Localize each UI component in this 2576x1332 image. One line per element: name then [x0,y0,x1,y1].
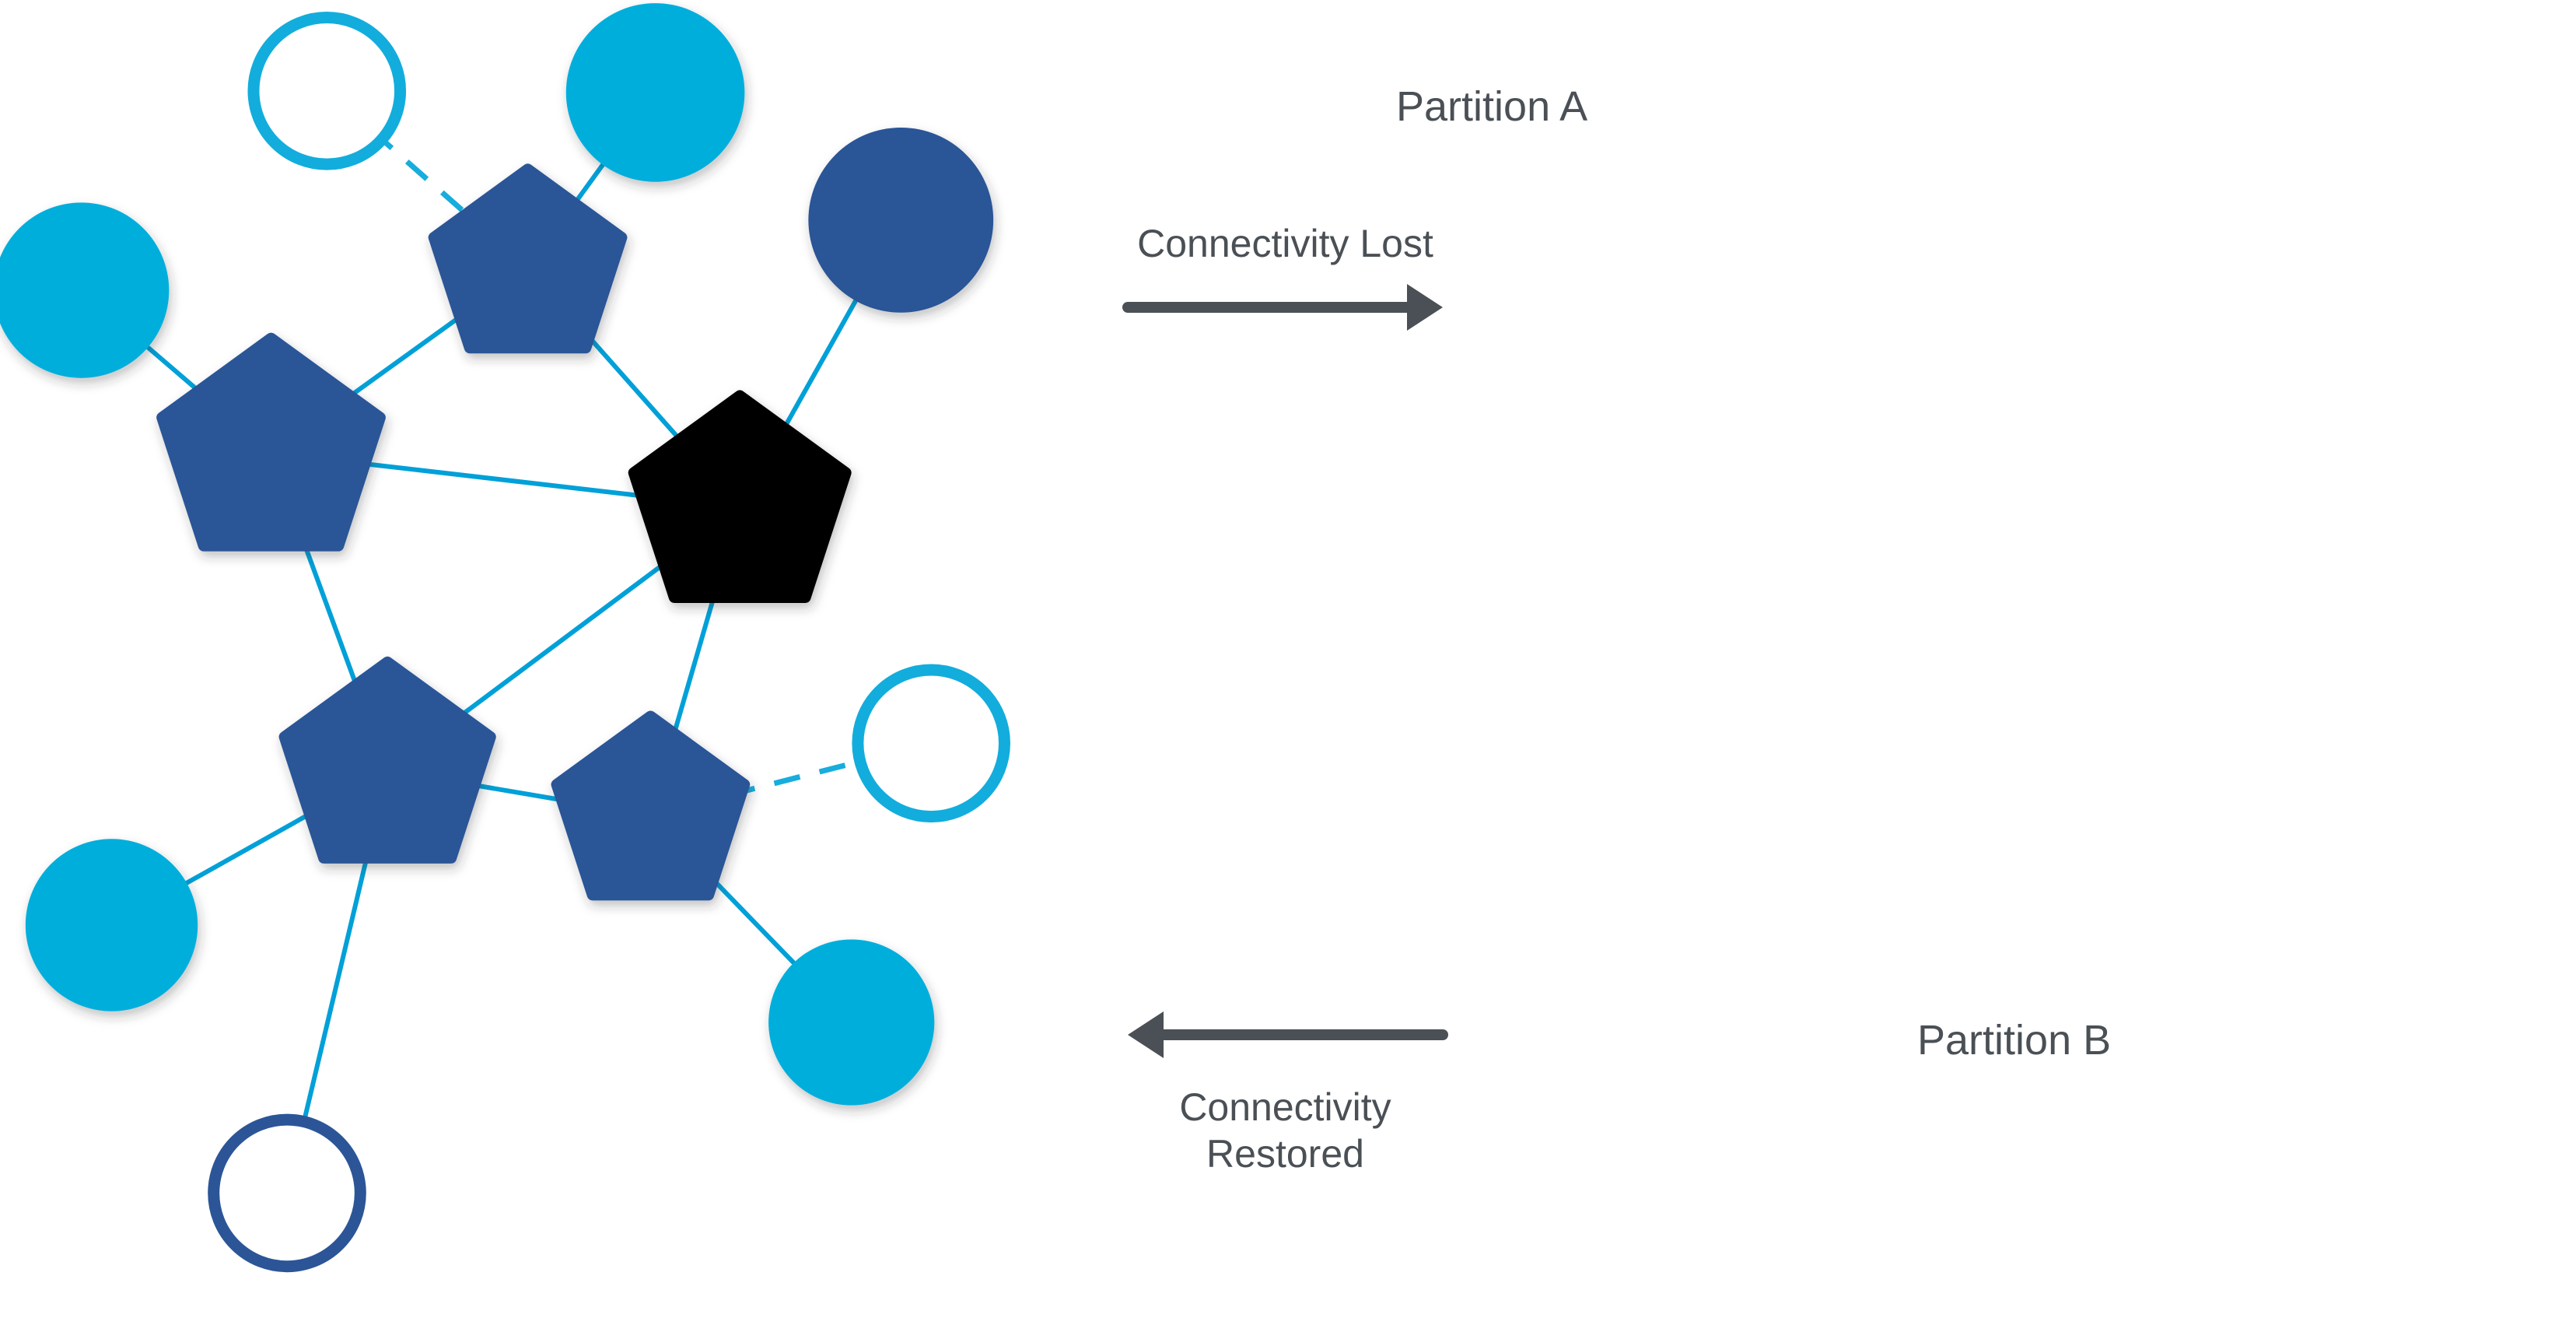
node-left-L13-circle-hollow-navy [214,1120,361,1267]
network-partition-diagram: Connectivity Lost Connectivity Restored … [0,0,2576,1332]
arrow-head [1128,1011,1164,1058]
transition-indicator-group: Connectivity Lost Connectivity Restored [1128,222,1443,1176]
node-left-L2-circle-fill-cyan [566,3,745,182]
node-left-L3-pentagon-fill-blue [434,169,622,348]
connectivity-restored-label-line2: Restored [1206,1132,1364,1176]
graph-edge-L8-L13 [301,857,367,1134]
node-left-L9-pentagon-fill-blue [557,716,745,895]
partition-a-label: Partition A [1396,83,1587,130]
node-left-L11-circle-fill-cyan [26,839,198,1011]
node-left-L8-pentagon-fill-blue [285,662,491,858]
node-left-L6-pentagon-fill-blue [162,338,380,546]
graph-edge-L6-L8 [303,542,357,687]
connectivity-restored-arrow [1128,1011,1443,1058]
arrow-head [1407,284,1443,331]
node-left-L10-circle-hollow-cyan [858,670,1005,817]
graph-edge-L3-L7 [582,328,679,438]
connectivity-restored-label-line1: Connectivity [1179,1085,1391,1129]
left-graph-nodes [0,3,1004,1267]
partition-b-label: Partition B [1917,1017,2111,1064]
graph-edge-L4-L7 [785,286,864,427]
graph-edge-L7-L8 [459,562,667,717]
graph-edge-L9-L12 [707,873,804,973]
graph-edge-L3-L6 [348,315,462,398]
graph-edge-L7-L9 [673,595,714,738]
node-left-L5-circle-fill-cyan [0,202,169,378]
connectivity-lost-label: Connectivity Lost [1137,222,1433,265]
graph-edge-L9-L10 [729,758,873,794]
diagram-canvas: Connectivity Lost Connectivity Restored … [0,0,2576,1332]
connectivity-lost-arrow [1128,284,1443,331]
graph-edge-L6-L7 [365,464,649,496]
node-left-L1-circle-hollow-cyan [254,18,401,165]
node-left-L12-circle-fill-cyan [768,939,934,1105]
node-left-L4-circle-fill-blue [808,128,993,313]
graph-edge-L8-L11 [173,814,310,891]
